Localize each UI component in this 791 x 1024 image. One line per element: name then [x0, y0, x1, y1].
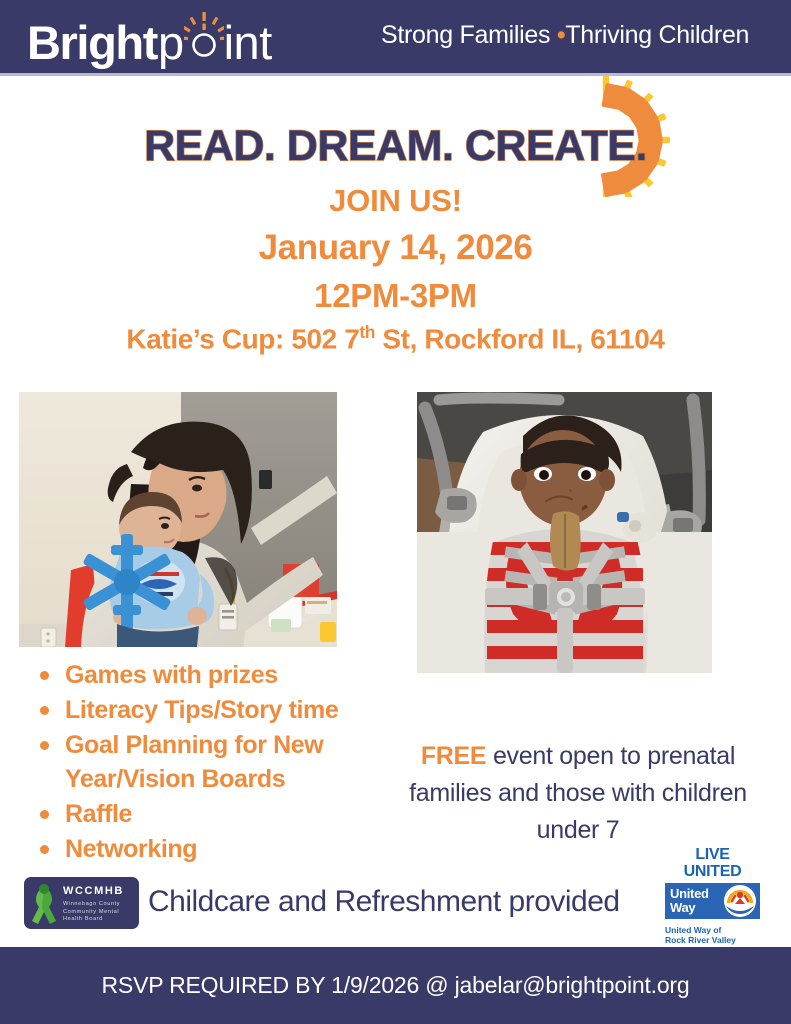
united-way-chapter-line2: Rock River Valley — [665, 935, 760, 945]
list-item: Literacy Tips/Story time — [33, 693, 393, 727]
list-item: Games with prizes — [33, 658, 393, 692]
united-way-wordmark: United Way — [665, 883, 719, 919]
free-keyword: FREE — [421, 742, 486, 770]
tagline-separator-dot: • — [557, 21, 565, 49]
wccmhb-acronym: WCCMHB — [63, 885, 124, 897]
wccmhb-line1: Winnebago County — [63, 901, 124, 909]
tagline-thriving-children: Thriving Children — [565, 21, 749, 49]
logo-letter-p: p — [158, 19, 184, 66]
logo-word-bright: Bright — [27, 19, 157, 66]
event-location-part2: St, Rockford IL, 61104 — [375, 323, 665, 354]
event-join-label: JOIN US! — [0, 183, 791, 219]
list-item: Networking — [33, 832, 393, 866]
event-location-part1: Katie’s Cup: 502 7 — [126, 323, 359, 354]
wccmhb-logo: WCCMHB Winnebago County Community Mental… — [24, 877, 139, 929]
tagline-strong-families: Strong Families — [381, 21, 550, 49]
photo-mother-and-toddler — [19, 392, 337, 647]
united-way-chapter: United Way of Rock River Valley — [665, 925, 760, 945]
free-event-notice: FREE event open to prenatal families and… — [392, 738, 764, 849]
live-united-text: LIVE UNITED — [665, 846, 760, 880]
awareness-ribbon-icon — [27, 881, 61, 925]
childcare-note: Childcare and Refreshment provided — [148, 885, 620, 919]
united-way-chapter-line1: United Way of — [665, 925, 760, 935]
event-location: Katie’s Cup: 502 7th St, Rockford IL, 61… — [0, 322, 791, 355]
united-way-line2: Way — [670, 901, 719, 915]
united-way-hand-icon — [719, 883, 760, 919]
sunburst-icon — [184, 12, 224, 59]
activities-list: Games with prizes Literacy Tips/Story ti… — [33, 658, 393, 867]
united-way-logo: LIVE UNITED United Way United — [665, 846, 760, 932]
logo-word-int: int — [224, 19, 272, 66]
event-time: 12PM-3PM — [0, 277, 791, 315]
brightpoint-logo: Brightp int — [27, 12, 272, 60]
list-item: Goal Planning for New Year/Vision Boards — [33, 728, 393, 796]
event-location-ordinal: th — [359, 322, 375, 342]
wccmhb-text-block: WCCMHB Winnebago County Community Mental… — [63, 882, 124, 924]
brand-tagline: Strong Families •Thriving Children — [381, 21, 749, 50]
wccmhb-line3: Health Board — [63, 916, 124, 924]
page-title: READ. DREAM. CREATE. — [0, 122, 791, 171]
event-date: January 14, 2026 — [0, 228, 791, 268]
rsvp-text: RSVP REQUIRED BY 1/9/2026 @ jabelar@brig… — [102, 972, 690, 999]
list-item: Raffle — [33, 797, 393, 831]
footer-bar: RSVP REQUIRED BY 1/9/2026 @ jabelar@brig… — [0, 947, 791, 1024]
united-way-line1: United — [670, 887, 719, 901]
header-bar: Brightp int Strong Fami — [0, 0, 791, 73]
photo-baby-in-bouncer — [417, 392, 712, 673]
united-way-brand-box: United Way — [665, 883, 760, 919]
wccmhb-line2: Community Mental — [63, 909, 124, 917]
flyer-page: Brightp int Strong Fami — [0, 0, 791, 1024]
